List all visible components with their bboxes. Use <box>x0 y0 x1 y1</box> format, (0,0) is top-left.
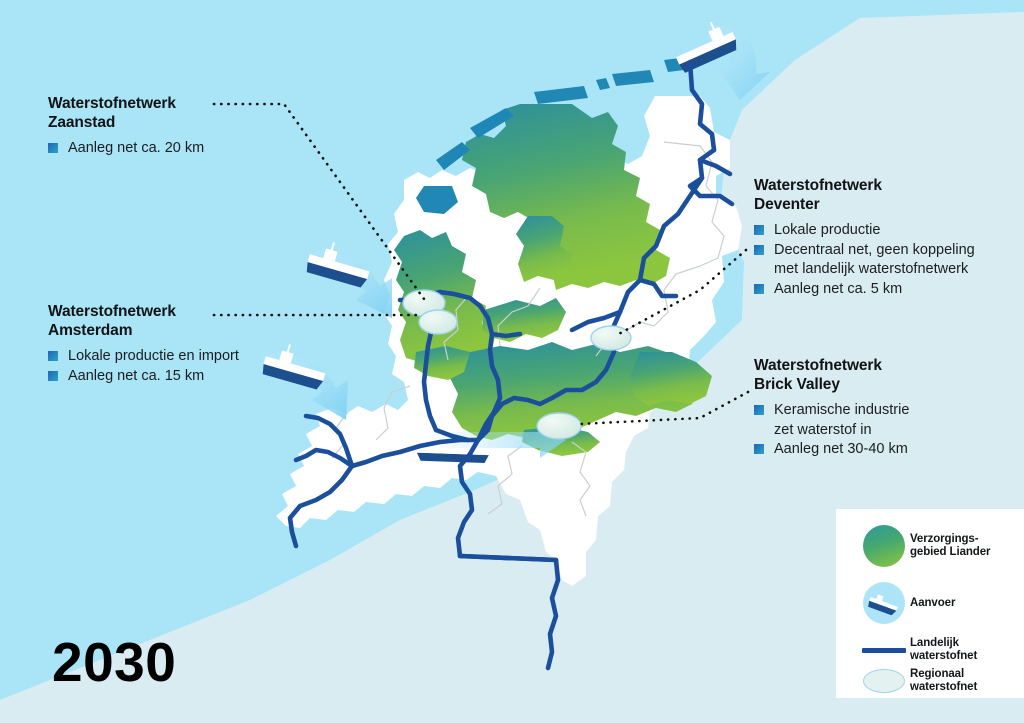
list-item-label: Decentraal net, geen koppeling <box>774 242 975 258</box>
legend-label: Landelijk waterstofnet <box>910 637 977 663</box>
deventer-node <box>591 326 631 350</box>
list-item: Lokale productie en import <box>48 347 318 366</box>
list-item-continuation: zet waterstof in <box>754 421 1004 440</box>
callout-title: Waterstofnetwerk Deventer <box>754 177 1016 214</box>
legend-label: Aanvoer <box>910 597 955 610</box>
callout-zaanstad: Waterstofnetwerk Zaanstad Aanleg net ca.… <box>48 95 308 159</box>
list-item-continuation: met landelijk waterstofnetwerk <box>754 260 1016 279</box>
list-item-label: zet waterstof in <box>774 422 872 438</box>
list-item-label: Aanleg net ca. 20 km <box>68 140 204 156</box>
list-item-label: met landelijk waterstofnetwerk <box>774 261 968 277</box>
infographic-map: Waterstofnetwerk Zaanstad Aanleg net ca.… <box>0 0 1024 723</box>
square-bullet-icon <box>48 351 58 361</box>
legend-item-service-area: Verzorgings- gebied Liander <box>858 525 990 567</box>
year-label: 2030 <box>52 632 176 692</box>
square-bullet-icon <box>754 245 764 255</box>
callout-title: Waterstofnetwerk Amsterdam <box>48 303 318 340</box>
list-item-label: Lokale productie en import <box>68 348 239 364</box>
square-bullet-icon <box>754 405 764 415</box>
callout-amsterdam: Waterstofnetwerk Amsterdam Lokale produc… <box>48 303 318 386</box>
list-item: Aanleg net ca. 20 km <box>48 139 308 158</box>
callout-brick-valley: Waterstofnetwerk Brick Valley Keramische… <box>754 357 1004 460</box>
legend-panel: Verzorgings- gebied Liander Aanvoer <box>836 509 1024 698</box>
callout-list: Keramische industrie zet waterstof in Aa… <box>754 401 1004 459</box>
square-bullet-icon <box>754 284 764 294</box>
square-bullet-icon <box>754 225 764 235</box>
callout-title: Waterstofnetwerk Brick Valley <box>754 357 1004 394</box>
list-item: Aanleg net ca. 5 km <box>754 280 1016 299</box>
list-item: Decentraal net, geen koppeling <box>754 241 1016 260</box>
list-item: Aanleg net 30-40 km <box>754 440 1004 459</box>
legend-label: Verzorgings- gebied Liander <box>910 533 990 559</box>
square-bullet-icon <box>754 444 764 454</box>
brick-valley-node <box>537 413 581 439</box>
callout-title: Waterstofnetwerk Zaanstad <box>48 95 308 132</box>
callout-deventer: Waterstofnetwerk Deventer Lokale product… <box>754 177 1016 299</box>
legend-item-supply: Aanvoer <box>858 582 955 624</box>
list-item-label: Lokale productie <box>774 222 880 238</box>
square-bullet-icon <box>48 371 58 381</box>
list-item-label: Aanleg net ca. 15 km <box>68 368 204 384</box>
callout-list: Lokale productie Decentraal net, geen ko… <box>754 221 1016 298</box>
amsterdam-node <box>419 310 457 334</box>
legend-item-national-net: Landelijk waterstofnet <box>858 637 977 663</box>
list-item-label: Aanleg net 30-40 km <box>774 441 908 457</box>
callout-list: Aanleg net ca. 20 km <box>48 139 308 158</box>
list-item: Aanleg net ca. 15 km <box>48 367 318 386</box>
legend-label: Regionaal waterstofnet <box>910 668 977 694</box>
ellipse-outline-icon <box>858 669 910 693</box>
square-bullet-icon <box>48 143 58 153</box>
ship-circle-icon <box>858 582 910 624</box>
list-item-label: Aanleg net ca. 5 km <box>774 281 902 297</box>
legend-item-regional-net: Regionaal waterstofnet <box>858 668 977 694</box>
list-item: Lokale productie <box>754 221 1016 240</box>
green-circle-icon <box>858 525 910 567</box>
list-item: Keramische industrie <box>754 401 1004 420</box>
callout-list: Lokale productie en import Aanleg net ca… <box>48 347 318 385</box>
blue-line-icon <box>858 648 910 653</box>
list-item-label: Keramische industrie <box>774 402 909 418</box>
